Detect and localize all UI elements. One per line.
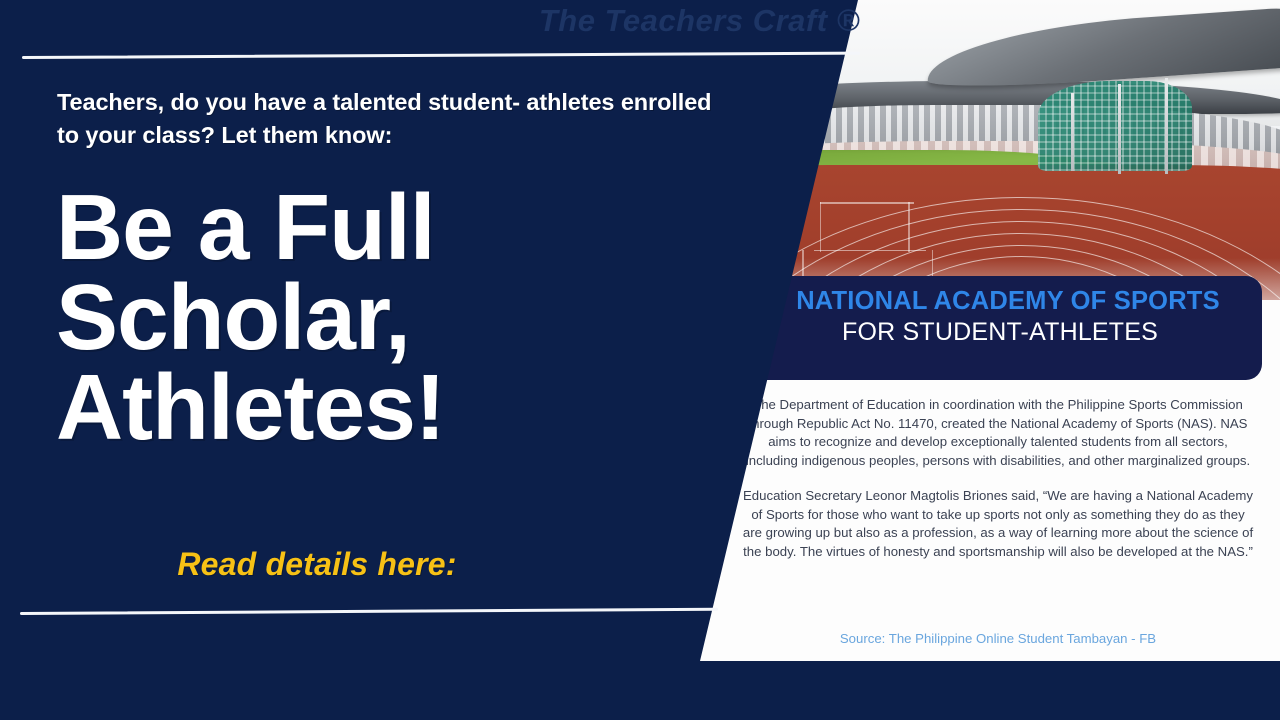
nas-article-text: The Department of Education in coordinat… bbox=[742, 396, 1254, 578]
track-vertical-line bbox=[908, 202, 910, 252]
cta-read-details[interactable]: Read details here: bbox=[57, 546, 577, 583]
kicker-text: Teachers, do you have a talented student… bbox=[57, 86, 717, 153]
nas-paragraph-1: The Department of Education in coordinat… bbox=[742, 396, 1254, 471]
watermark-the-teachers-craft: The Teachers Craft ® bbox=[470, 3, 860, 39]
poster-slide: NATIONAL ACADEMY OF SPORTS FOR STUDENT-A… bbox=[0, 0, 1280, 720]
nas-source-line: Source: The Philippine Online Student Ta… bbox=[840, 631, 1156, 646]
cage-post bbox=[1165, 78, 1168, 174]
track-vertical-line bbox=[820, 202, 822, 252]
cage-post bbox=[1118, 84, 1121, 174]
nas-source-block: Source: The Philippine Online Student Ta… bbox=[742, 630, 1254, 649]
throwing-cage-net bbox=[1038, 81, 1191, 171]
headline-text: Be a Full Scholar, Athletes! bbox=[56, 182, 716, 453]
nas-paragraph-2: Education Secretary Leonor Magtolis Brio… bbox=[742, 487, 1254, 562]
track-cross-line bbox=[820, 202, 914, 204]
cage-post bbox=[1071, 93, 1074, 171]
